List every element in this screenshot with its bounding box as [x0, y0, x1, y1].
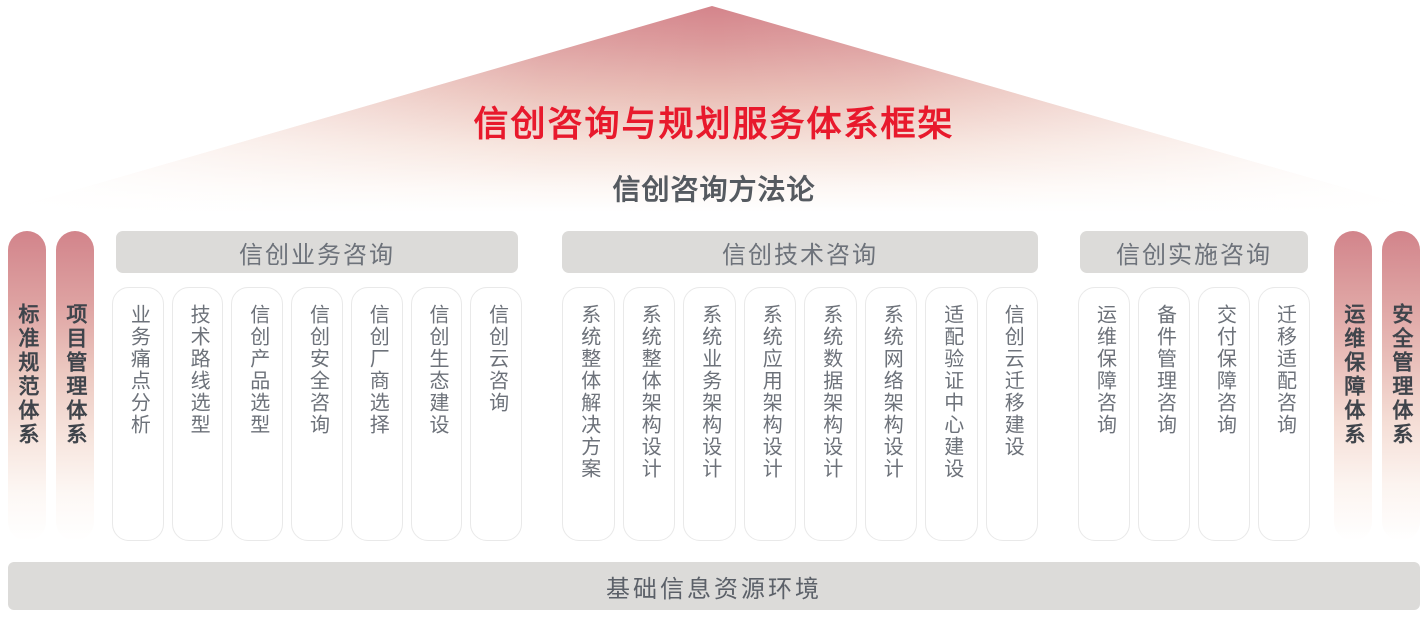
section-implementation-consulting: 信创实施咨询 运维保障咨询 备件管理咨询 交付保障咨询 迁移适配咨询 — [1078, 231, 1310, 541]
pillar-label: 安全管理体系 — [1390, 303, 1412, 447]
list-item[interactable]: 系统业务架构设计 — [683, 287, 736, 541]
section-header[interactable]: 信创业务咨询 — [116, 231, 518, 273]
card-label: 信创厂商选择 — [366, 304, 387, 436]
pillar-standard-spec[interactable]: 标准规范体系 — [8, 231, 46, 541]
list-item[interactable]: 信创产品选型 — [231, 287, 283, 541]
card-label: 信创云迁移建设 — [1001, 304, 1022, 458]
card-label: 系统业务架构设计 — [699, 304, 720, 480]
list-item[interactable]: 系统网络架构设计 — [865, 287, 918, 541]
foundation-layer-label: 基础信息资源环境 — [606, 569, 822, 604]
list-item[interactable]: 信创云迁移建设 — [986, 287, 1039, 541]
card-label: 业务痛点分析 — [127, 304, 148, 436]
list-item[interactable]: 技术路线选型 — [172, 287, 224, 541]
card-label: 信创产品选型 — [247, 304, 268, 436]
list-item[interactable]: 系统整体解决方案 — [562, 287, 615, 541]
card-label: 交付保障咨询 — [1214, 304, 1235, 436]
list-item[interactable]: 信创云咨询 — [470, 287, 522, 541]
section-card-list: 系统整体解决方案 系统整体架构设计 系统业务架构设计 系统应用架构设计 系统数据… — [562, 287, 1038, 541]
pillar-project-management[interactable]: 项目管理体系 — [56, 231, 94, 541]
card-label: 信创安全咨询 — [307, 304, 328, 436]
card-label: 信创生态建设 — [426, 304, 447, 436]
section-business-consulting: 信创业务咨询 业务痛点分析 技术路线选型 信创产品选型 信创安全咨询 信创厂商选… — [112, 231, 522, 541]
section-header[interactable]: 信创技术咨询 — [562, 231, 1038, 273]
pillar-label: 标准规范体系 — [16, 303, 38, 447]
list-item[interactable]: 交付保障咨询 — [1198, 287, 1250, 541]
card-label: 系统数据架构设计 — [820, 304, 841, 480]
list-item[interactable]: 信创厂商选择 — [351, 287, 403, 541]
card-label: 系统整体解决方案 — [578, 304, 599, 480]
page-subtitle: 信创咨询方法论 — [0, 168, 1428, 208]
card-label: 适配验证中心建设 — [941, 304, 962, 480]
section-header[interactable]: 信创实施咨询 — [1080, 231, 1308, 273]
card-label: 系统网络架构设计 — [880, 304, 901, 480]
card-label: 备件管理咨询 — [1154, 304, 1175, 436]
pillar-security-management[interactable]: 安全管理体系 — [1382, 231, 1420, 541]
card-label: 系统应用架构设计 — [759, 304, 780, 480]
section-card-list: 运维保障咨询 备件管理咨询 交付保障咨询 迁移适配咨询 — [1078, 287, 1310, 541]
list-item[interactable]: 系统应用架构设计 — [744, 287, 797, 541]
list-item[interactable]: 迁移适配咨询 — [1258, 287, 1310, 541]
card-label: 迁移适配咨询 — [1274, 304, 1295, 436]
list-item[interactable]: 业务痛点分析 — [112, 287, 164, 541]
list-item[interactable]: 运维保障咨询 — [1078, 287, 1130, 541]
list-item[interactable]: 系统数据架构设计 — [804, 287, 857, 541]
section-card-list: 业务痛点分析 技术路线选型 信创产品选型 信创安全咨询 信创厂商选择 信创生态建… — [112, 287, 522, 541]
list-item[interactable]: 备件管理咨询 — [1138, 287, 1190, 541]
pillar-label: 运维保障体系 — [1342, 303, 1364, 447]
card-label: 技术路线选型 — [187, 304, 208, 436]
list-item[interactable]: 信创生态建设 — [411, 287, 463, 541]
section-technical-consulting: 信创技术咨询 系统整体解决方案 系统整体架构设计 系统业务架构设计 系统应用架构… — [562, 231, 1038, 541]
list-item[interactable]: 系统整体架构设计 — [623, 287, 676, 541]
list-item[interactable]: 信创安全咨询 — [291, 287, 343, 541]
page-title: 信创咨询与规划服务体系框架 — [0, 96, 1428, 147]
card-label: 运维保障咨询 — [1094, 304, 1115, 436]
diagram-canvas: 信创咨询与规划服务体系框架 信创咨询方法论 标准规范体系 项目管理体系 运维保障… — [0, 0, 1428, 627]
pillar-label: 项目管理体系 — [64, 303, 86, 447]
pillar-ops-support[interactable]: 运维保障体系 — [1334, 231, 1372, 541]
card-label: 系统整体架构设计 — [638, 304, 659, 480]
list-item[interactable]: 适配验证中心建设 — [925, 287, 978, 541]
card-label: 信创云咨询 — [486, 304, 507, 414]
foundation-layer-bar[interactable]: 基础信息资源环境 — [8, 562, 1420, 610]
